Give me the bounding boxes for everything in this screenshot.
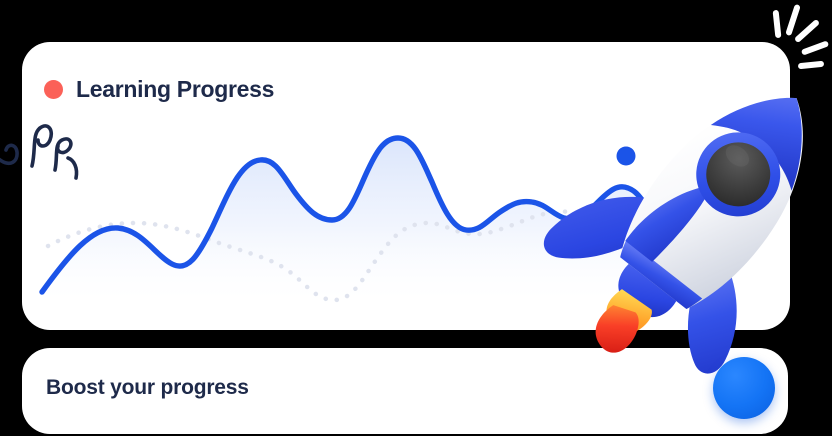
squiggle-doodle-icon [0,104,88,192]
page-title: Learning Progress [76,76,274,103]
boost-action-button[interactable] [713,357,775,419]
sparkle-rays-icon [752,2,832,80]
boost-title: Boost your progress [46,376,249,400]
card-header: Learning Progress [44,76,274,103]
rocket-illustration [588,62,832,372]
app-root: Learning Progress [0,0,832,436]
status-dot [44,80,63,99]
